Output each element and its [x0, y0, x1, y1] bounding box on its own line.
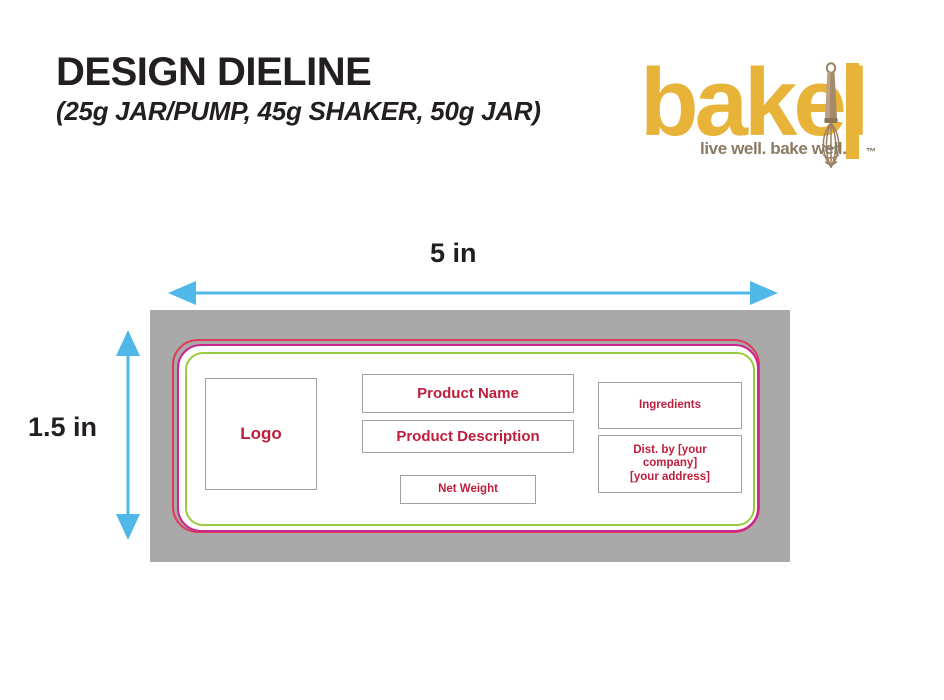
height-dimension-label: 1.5 in [28, 412, 97, 443]
page-title: DESIGN DIELINE [56, 52, 616, 93]
distributor-line-1: Dist. by [your [630, 444, 710, 458]
distributor-lines: Dist. by [your company] [your address] [630, 444, 710, 485]
ingredients-box: Ingredients [598, 382, 742, 429]
net-weight-box: Net Weight [400, 475, 536, 504]
distributor-box: Dist. by [your company] [your address] [598, 435, 742, 493]
trademark-symbol: ™ [866, 147, 876, 158]
height-dimension-arrow [115, 330, 141, 540]
product-description-box: Product Description [362, 420, 574, 453]
dieline-artboard: Logo Product Name Product Description Ne… [150, 310, 790, 562]
width-dimension-label: 5 in [430, 238, 477, 269]
distributor-line-3: [your address] [630, 471, 710, 485]
page-header: DESIGN DIELINE (25g JAR/PUMP, 45g SHAKER… [56, 52, 616, 127]
distributor-line-2: company] [630, 457, 710, 471]
page-subtitle: (25g JAR/PUMP, 45g SHAKER, 50g JAR) [56, 97, 616, 127]
brand-logo: bakel live well. bake well. ™ [638, 55, 888, 175]
width-dimension-arrow [168, 280, 778, 306]
product-name-box: Product Name [362, 374, 574, 413]
brand-tagline: live well. bake well. [700, 139, 847, 159]
logo-placeholder-box: Logo [205, 378, 317, 490]
